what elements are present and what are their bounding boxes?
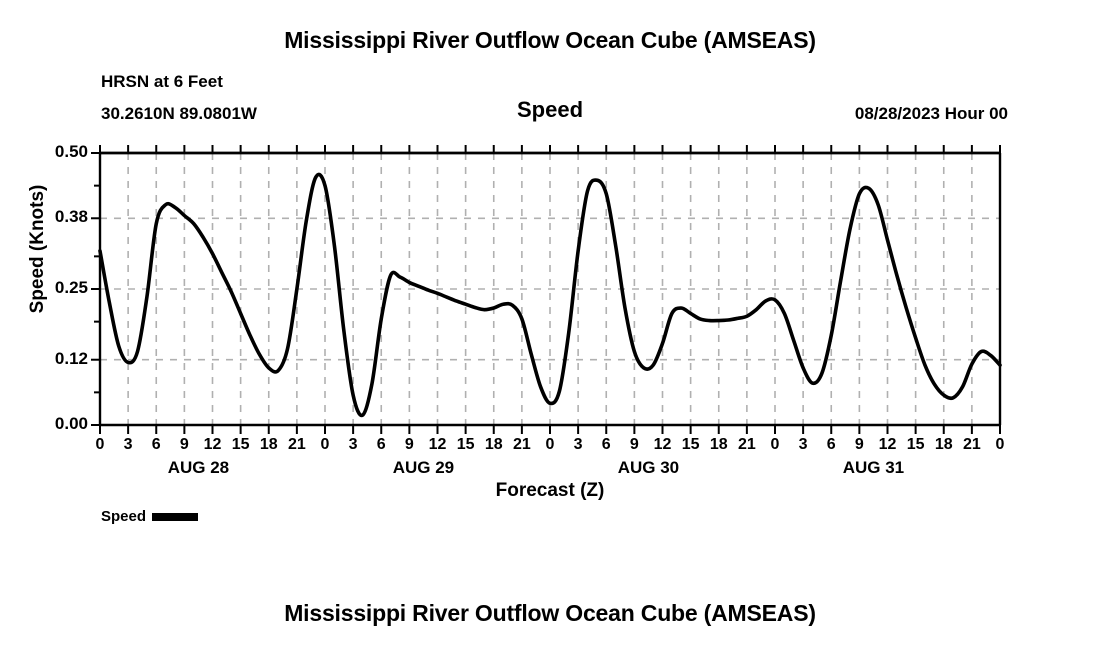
x-tick-label: 6 bbox=[366, 436, 396, 454]
x-tick-label: 0 bbox=[85, 436, 115, 454]
x-tick-label: 12 bbox=[873, 436, 903, 454]
gridlines bbox=[100, 153, 1000, 425]
footer-title: Mississippi River Outflow Ocean Cube (AM… bbox=[0, 600, 1100, 627]
x-tick-label: 0 bbox=[760, 436, 790, 454]
x-tick-label: 15 bbox=[226, 436, 256, 454]
legend-swatch-speed bbox=[152, 513, 198, 521]
x-tick-label: 18 bbox=[479, 436, 509, 454]
x-tick-label: 12 bbox=[198, 436, 228, 454]
legend: Speed bbox=[101, 508, 198, 525]
y-tick-label: 0.25 bbox=[28, 278, 88, 298]
x-day-label: AUG 31 bbox=[813, 458, 933, 478]
x-tick-label: 6 bbox=[591, 436, 621, 454]
plot-area bbox=[0, 0, 1100, 500]
x-tick-label: 21 bbox=[732, 436, 762, 454]
x-tick-label: 9 bbox=[169, 436, 199, 454]
x-tick-label: 9 bbox=[844, 436, 874, 454]
x-tick-label: 18 bbox=[704, 436, 734, 454]
x-tick-label: 3 bbox=[338, 436, 368, 454]
x-tick-label: 21 bbox=[957, 436, 987, 454]
legend-label: Speed bbox=[101, 508, 146, 525]
x-day-label: AUG 29 bbox=[363, 458, 483, 478]
x-tick-label: 12 bbox=[423, 436, 453, 454]
y-tick-label: 0.50 bbox=[28, 142, 88, 162]
x-tick-label: 6 bbox=[816, 436, 846, 454]
forecast-chart-figure: Mississippi River Outflow Ocean Cube (AM… bbox=[0, 0, 1100, 650]
x-day-label: AUG 28 bbox=[138, 458, 258, 478]
x-tick-label: 0 bbox=[985, 436, 1015, 454]
x-tick-label: 15 bbox=[676, 436, 706, 454]
x-tick-label: 9 bbox=[394, 436, 424, 454]
x-tick-label: 0 bbox=[310, 436, 340, 454]
x-tick-label: 21 bbox=[507, 436, 537, 454]
x-tick-label: 0 bbox=[535, 436, 565, 454]
y-tick-label: 0.00 bbox=[28, 414, 88, 434]
x-tick-label: 18 bbox=[929, 436, 959, 454]
y-tick-label: 0.12 bbox=[28, 349, 88, 369]
x-tick-label: 9 bbox=[619, 436, 649, 454]
x-day-label: AUG 30 bbox=[588, 458, 708, 478]
x-tick-label: 12 bbox=[648, 436, 678, 454]
y-tick-label: 0.38 bbox=[28, 207, 88, 227]
x-tick-label: 3 bbox=[563, 436, 593, 454]
x-tick-label: 3 bbox=[788, 436, 818, 454]
x-tick-label: 15 bbox=[451, 436, 481, 454]
x-tick-label: 18 bbox=[254, 436, 284, 454]
x-tick-label: 15 bbox=[901, 436, 931, 454]
x-tick-label: 6 bbox=[141, 436, 171, 454]
x-tick-label: 21 bbox=[282, 436, 312, 454]
x-tick-label: 3 bbox=[113, 436, 143, 454]
